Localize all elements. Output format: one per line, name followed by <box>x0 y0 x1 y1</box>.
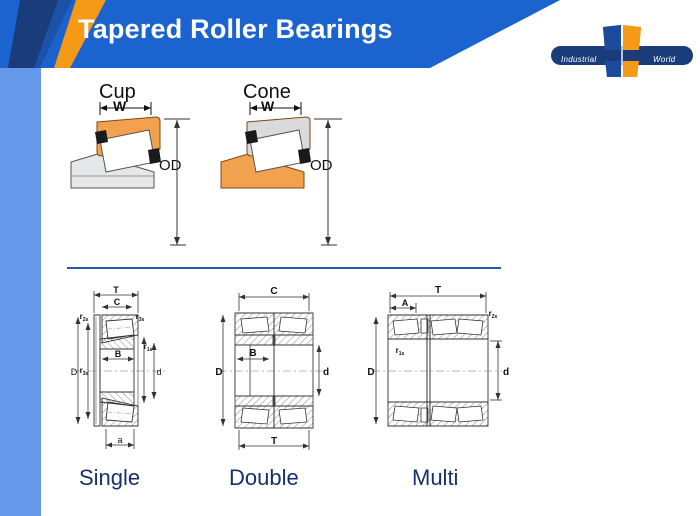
double-dim-B: B <box>249 348 256 359</box>
multi-roller-t3 <box>457 319 483 335</box>
multi-roller-b3 <box>457 406 483 422</box>
multi-roller-b2 <box>431 406 457 422</box>
multi-roller-t2 <box>431 319 457 335</box>
industrial-world-logo: Industrial World <box>548 5 696 83</box>
multi-dim-r2s: r2s <box>489 309 498 320</box>
single-dim-r1s: r1s <box>144 342 153 353</box>
cup-cage-left <box>95 130 108 144</box>
multi-roller-b1 <box>393 406 419 422</box>
double-cone-bottom-right <box>275 396 313 406</box>
double-dim-D: D <box>215 367 222 378</box>
double-dim-C: C <box>270 286 277 297</box>
single-dim-a: a <box>117 435 122 445</box>
double-roller-top-right <box>279 317 307 333</box>
single-cone-wall <box>94 315 100 426</box>
single-row-bearing-diagram: T C D d B a r2s r3s r3s r1s <box>62 283 187 458</box>
page-title: Tapered Roller Bearings <box>78 14 393 45</box>
logo-mark <box>548 5 696 83</box>
cup-bearing-diagram <box>60 100 190 250</box>
single-dim-C: C <box>114 297 121 307</box>
single-dim-r2s: r2s <box>80 312 89 323</box>
slide-canvas: Tapered Roller Bearings Industrial World… <box>0 0 700 516</box>
cone-cage-right <box>298 148 311 164</box>
logo-right-text: World <box>653 55 675 64</box>
double-cone-top-left <box>235 335 273 345</box>
multi-dim-T: T <box>435 285 441 296</box>
multi-dim-A: A <box>402 298 409 308</box>
single-row-label: Single <box>79 465 140 491</box>
left-sidebar-bar <box>0 68 41 516</box>
cone-bearing-diagram <box>210 100 345 250</box>
multi-dim-r1s: r1s <box>396 346 405 357</box>
double-row-label: Double <box>229 465 299 491</box>
double-dim-d: d <box>323 367 329 378</box>
multi-body-outline <box>388 339 488 402</box>
double-roller-bottom-right <box>279 408 307 424</box>
multi-dim-d: d <box>503 367 509 378</box>
multi-row-bearing-diagram: T A D d r2s r1s <box>360 283 515 458</box>
section-divider <box>67 267 501 269</box>
single-dim-D: D <box>71 367 78 377</box>
multi-row-label: Multi <box>412 465 458 491</box>
single-dim-d: d <box>156 367 161 377</box>
single-dim-r3s: r3s <box>80 366 89 377</box>
double-roller-bottom-left <box>241 408 269 424</box>
single-dim-B: B <box>115 349 122 359</box>
multi-roller-t1 <box>393 319 419 335</box>
single-dim-T: T <box>113 285 119 295</box>
double-cone-bottom-left <box>235 396 273 406</box>
logo-left-text: Industrial <box>561 55 596 64</box>
double-dim-T: T <box>271 436 277 447</box>
sidebar-divider <box>41 68 44 516</box>
double-row-bearing-diagram: C D d B T <box>205 283 335 458</box>
double-roller-top-left <box>241 317 269 333</box>
double-cone-top-right <box>275 335 313 345</box>
cup-cage-right <box>148 148 161 164</box>
cone-cage-left <box>245 130 258 144</box>
multi-dim-D: D <box>367 367 374 378</box>
